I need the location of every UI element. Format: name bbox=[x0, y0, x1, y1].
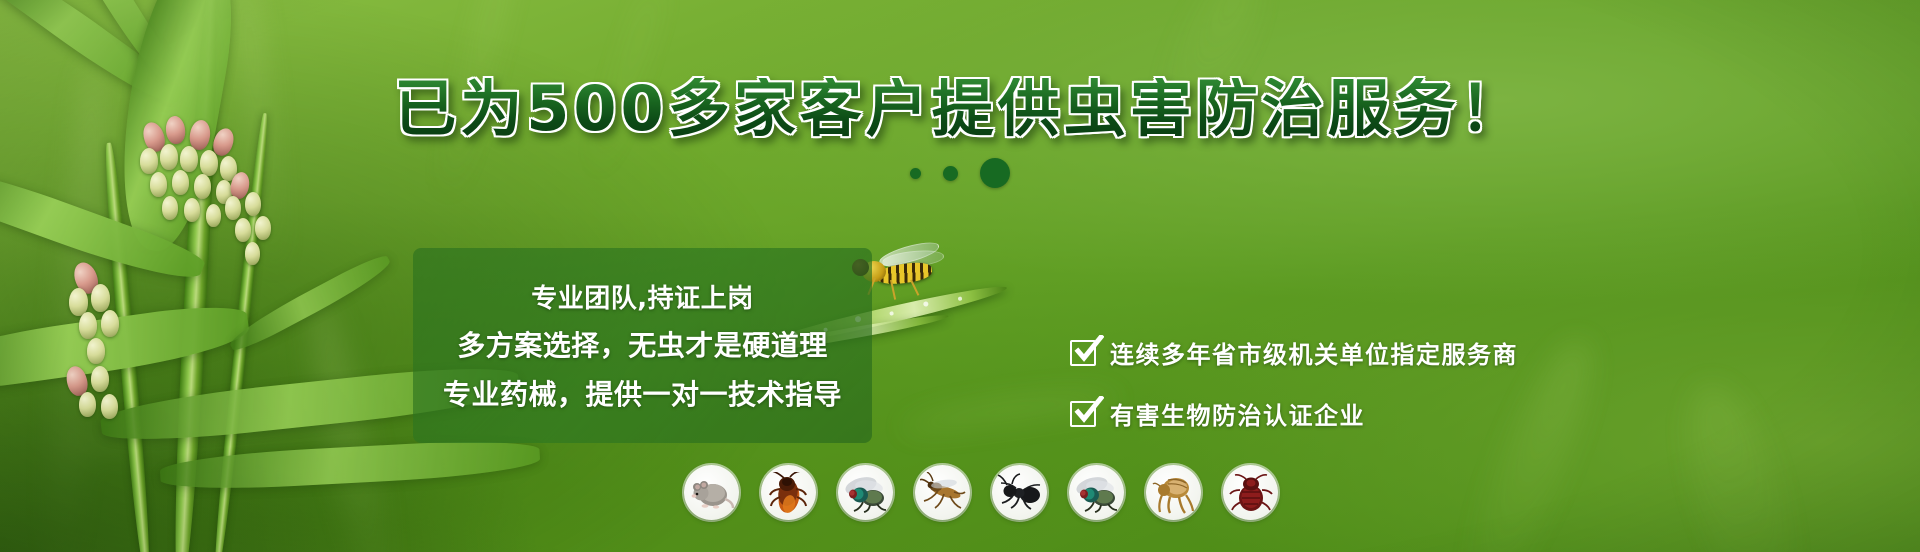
checklist-item-label: 连续多年省市级机关单位指定服务商 bbox=[1110, 335, 1518, 370]
checkbox-checked-icon bbox=[1070, 401, 1096, 427]
mosquito-icon[interactable]: 蚊 bbox=[915, 465, 970, 520]
promo-banner: 已为500多家客户提供虫害防治服务！ 专业团队,持证上岗 多方案选择，无虫才是硬… bbox=[0, 0, 1920, 552]
credentials-checklist: 连续多年省市级机关单位指定服务商 有害生物防治认证企业 bbox=[1070, 335, 1518, 431]
selling-points-panel: 专业团队,持证上岗 多方案选择，无虫才是硬道理 专业药械，提供一对一技术指导 bbox=[413, 248, 872, 443]
selling-point-line-3: 专业药械，提供一对一技术指导 bbox=[431, 373, 854, 413]
bedbug-icon[interactable]: 臭虫 bbox=[1223, 465, 1278, 520]
blowfly-icon[interactable]: 绿头蝇 bbox=[1069, 465, 1124, 520]
banner-headline: 已为500多家客户提供虫害防治服务！ bbox=[0, 78, 1920, 140]
ant-icon[interactable]: 蚁 bbox=[992, 465, 1047, 520]
checkbox-checked-icon bbox=[1070, 340, 1096, 366]
flea-icon[interactable]: 跳蚤 bbox=[1146, 465, 1201, 520]
checklist-item-label: 有害生物防治认证企业 bbox=[1110, 396, 1365, 431]
checklist-item: 有害生物防治认证企业 bbox=[1070, 396, 1518, 431]
cockroach-icon[interactable]: 蟑螂 bbox=[761, 465, 816, 520]
selling-point-line-1: 专业团队,持证上岗 bbox=[431, 278, 854, 315]
dot-small-icon bbox=[910, 168, 921, 179]
decorative-dots bbox=[0, 158, 1920, 188]
dot-medium-icon bbox=[943, 166, 958, 181]
pest-type-icon-row: 鼠 蟑螂 bbox=[684, 465, 1278, 520]
dot-large-icon bbox=[980, 158, 1010, 188]
rodent-icon[interactable]: 鼠 bbox=[684, 465, 739, 520]
fly-icon[interactable]: 蝇 bbox=[838, 465, 893, 520]
selling-point-line-2: 多方案选择，无虫才是硬道理 bbox=[431, 324, 854, 364]
checklist-item: 连续多年省市级机关单位指定服务商 bbox=[1070, 335, 1518, 370]
